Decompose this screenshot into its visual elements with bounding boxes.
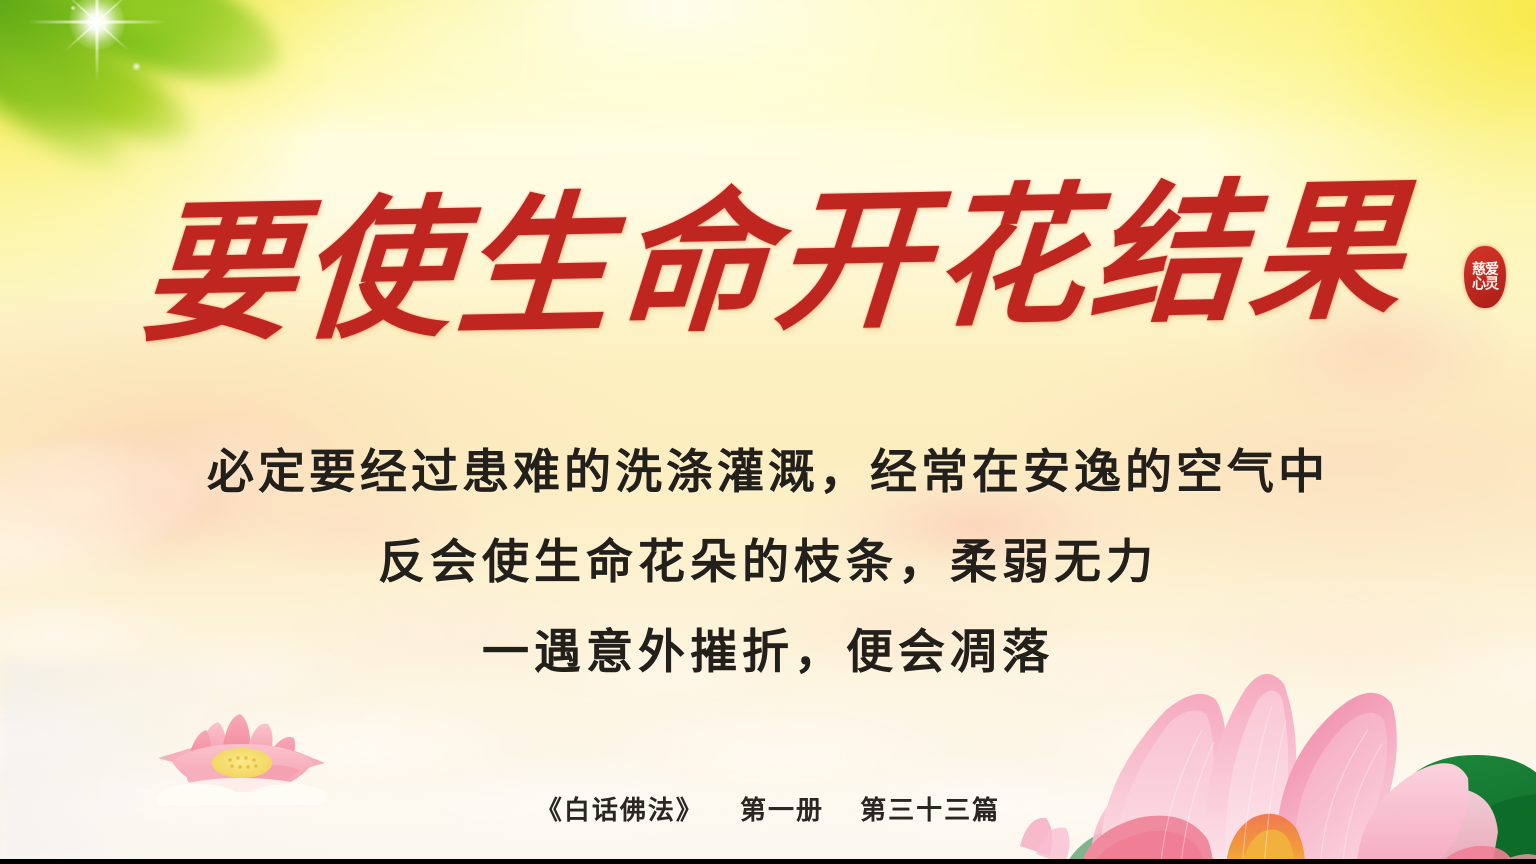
sun-flare-bokeh-1	[132, 62, 141, 71]
body-line-1: 必定要经过患难的洗涤灌溉，经常在安逸的空气中	[0, 428, 1536, 518]
citation-volume: 第一册	[740, 796, 824, 826]
page-title: 要使生命开花结果	[0, 171, 1536, 352]
body-line-2: 反会使生命花朵的枝条，柔弱无力	[0, 518, 1536, 608]
citation: 《白话佛法》 第一册 第三十三篇	[0, 790, 1536, 827]
citation-chapter: 第三十三篇	[860, 796, 1000, 826]
sun-flare-bokeh-2	[70, 5, 76, 11]
body-line-3: 一遇意外摧折，便会凋落	[0, 608, 1536, 698]
body-text-block: 必定要经过患难的洗涤灌溉，经常在安逸的空气中 反会使生命花朵的枝条，柔弱无力 一…	[0, 428, 1536, 698]
seal-stamp-icon: 慈爱心灵	[1464, 246, 1506, 308]
citation-book: 《白话佛法》	[536, 796, 704, 826]
bottom-letterbox-bar	[0, 859, 1536, 864]
poster-canvas: 要使生命开花结果 慈爱心灵 必定要经过患难的洗涤灌溉，经常在安逸的空气中 反会使…	[0, 0, 1536, 864]
seal-characters: 慈爱心灵	[1468, 263, 1502, 291]
